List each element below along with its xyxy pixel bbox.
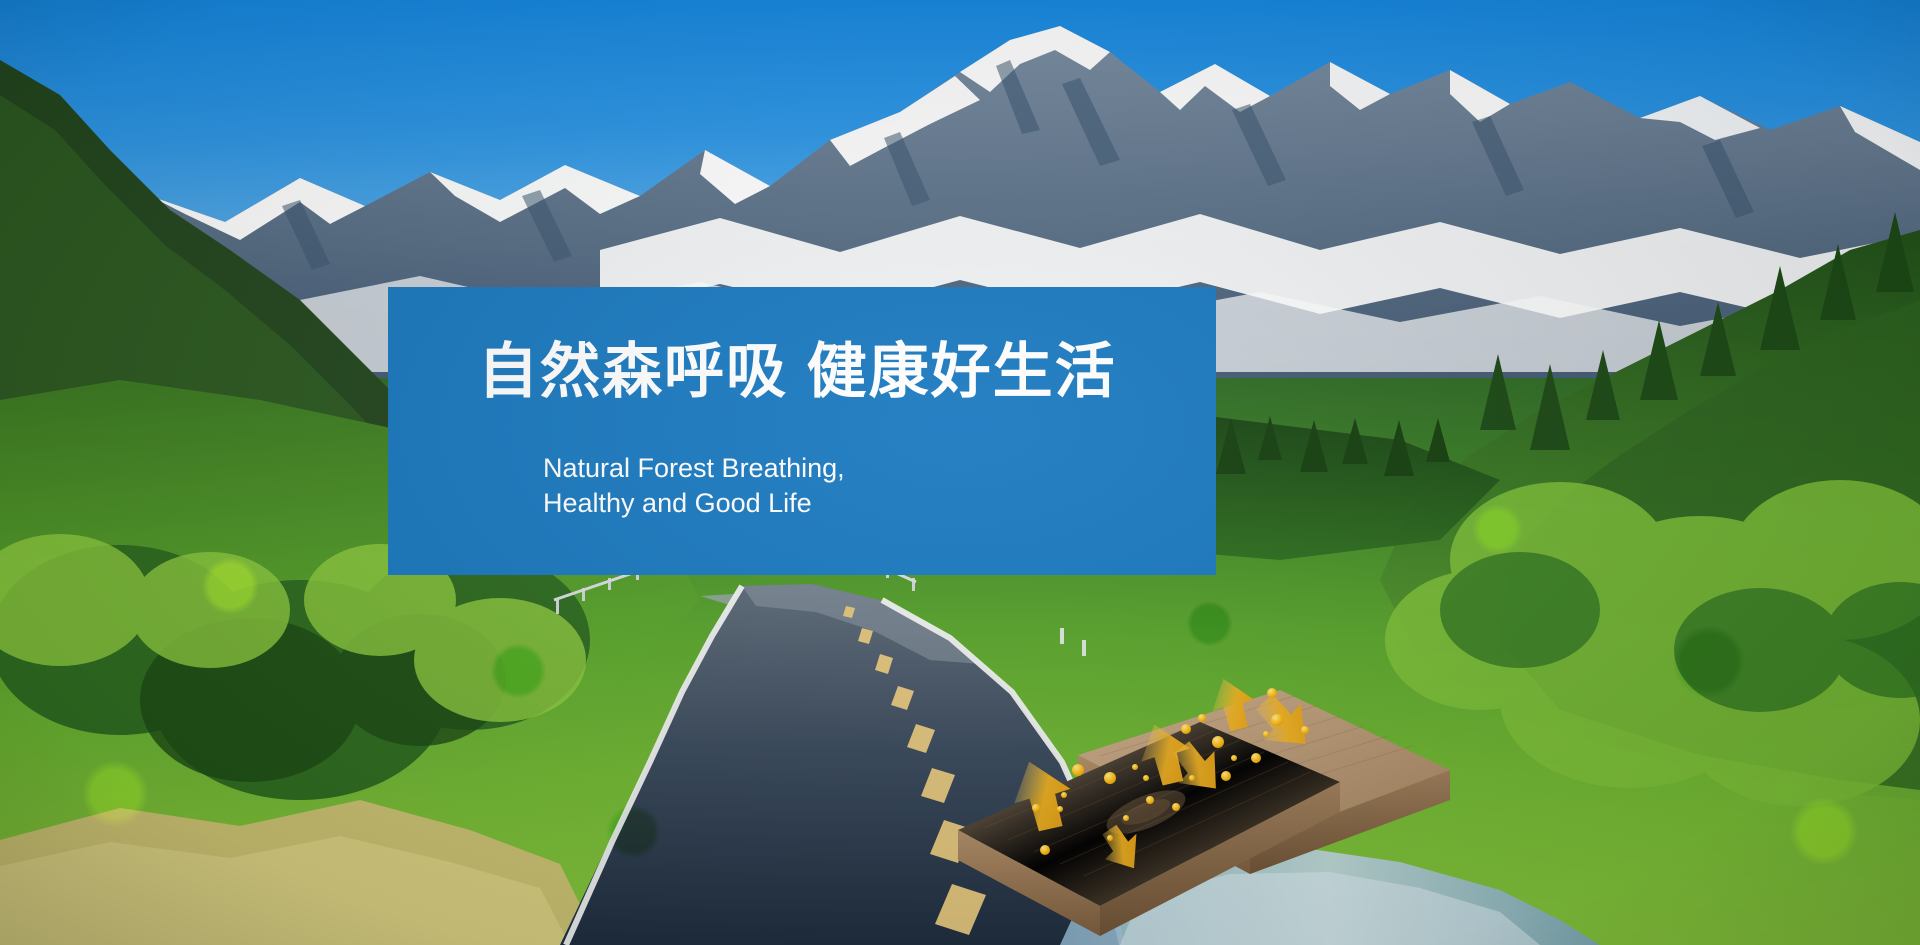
wood-flooring-product bbox=[950, 660, 1470, 945]
headline-panel: 自然森呼吸 健康好生活 Natural Forest Breathing, He… bbox=[388, 287, 1216, 575]
subtitle-block: Natural Forest Breathing, Healthy and Go… bbox=[543, 451, 1183, 520]
page-title: 自然森呼吸 健康好生活 bbox=[478, 337, 1198, 406]
subtitle-line-1: Natural Forest Breathing, bbox=[543, 453, 845, 483]
hero-banner: 自然森呼吸 健康好生活 Natural Forest Breathing, He… bbox=[0, 0, 1920, 945]
subtitle-line-2: Healthy and Good Life bbox=[543, 486, 1183, 521]
